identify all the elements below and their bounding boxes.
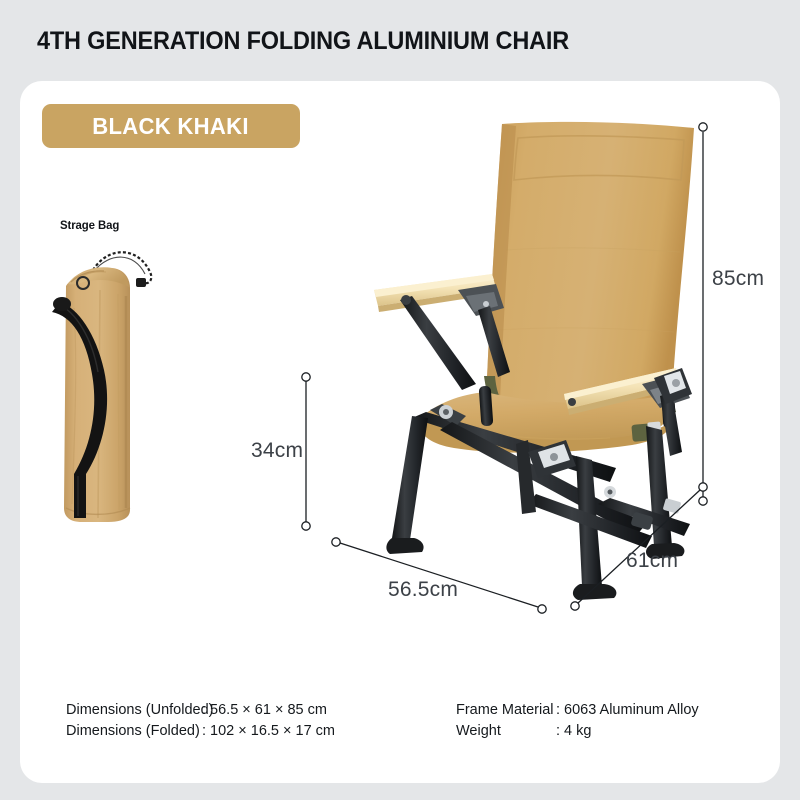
spec-key: Weight	[456, 721, 556, 742]
dimension-label-width: 56.5cm	[388, 578, 458, 602]
product-infographic: 4TH GENERATION FOLDING ALUMINIUM CHAIR B…	[0, 0, 800, 800]
spec-value: : 4 kg	[556, 721, 591, 742]
storage-bag-image	[38, 238, 188, 533]
storage-bag-caption: Strage Bag	[60, 218, 119, 232]
dimension-label-depth: 61cm	[626, 549, 678, 573]
spec-column-material: Frame Material : 6063 Aluminum Alloy Wei…	[456, 700, 699, 742]
spec-row: Frame Material : 6063 Aluminum Alloy	[456, 700, 699, 721]
spec-row: Weight : 4 kg	[456, 721, 699, 742]
spec-value: : 6063 Aluminum Alloy	[556, 700, 699, 721]
dimension-label-seat-height: 34cm	[251, 439, 303, 463]
spec-row: Dimensions (Unfolded) : 56.5 × 61 × 85 c…	[66, 700, 335, 721]
spec-column-dimensions: Dimensions (Unfolded) : 56.5 × 61 × 85 c…	[66, 700, 335, 742]
page-title: 4TH GENERATION FOLDING ALUMINIUM CHAIR	[37, 27, 569, 56]
spec-key: Dimensions (Folded)	[66, 721, 202, 742]
spec-key: Dimensions (Unfolded)	[66, 700, 202, 721]
spec-value: : 56.5 × 61 × 85 cm	[202, 700, 327, 721]
color-badge[interactable]: BLACK KHAKI	[42, 104, 300, 148]
spec-key: Frame Material	[456, 700, 556, 721]
color-badge-label: BLACK KHAKI	[93, 113, 249, 140]
dimension-label-height: 85cm	[712, 267, 764, 291]
chair-product-image	[280, 100, 700, 605]
spec-row: Dimensions (Folded) : 102 × 16.5 × 17 cm	[66, 721, 335, 742]
spec-value: : 102 × 16.5 × 17 cm	[202, 721, 335, 742]
